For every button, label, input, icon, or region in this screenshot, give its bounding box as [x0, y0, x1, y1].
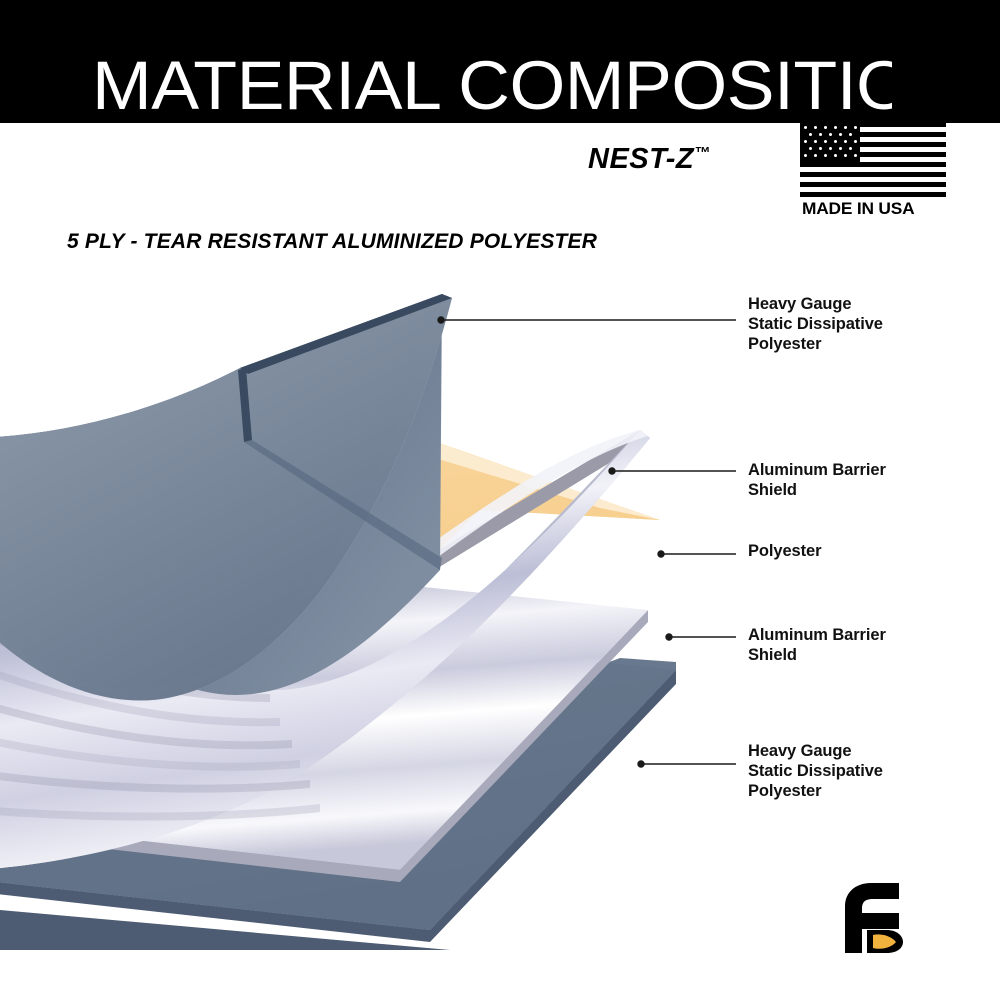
callout-label-4: Aluminum Barrier Shield	[748, 625, 886, 665]
page-title-text: MATERIAL COMPOSITION	[92, 49, 892, 123]
callout-label-1: Heavy Gauge Static Dissipative Polyester	[748, 294, 883, 354]
flag-canton	[800, 122, 860, 163]
callout-label-5: Heavy Gauge Static Dissipative Polyester	[748, 741, 883, 801]
page-title: MATERIAL COMPOSITION	[92, 49, 892, 123]
made-in-usa-label: MADE IN USA	[802, 199, 914, 219]
callout-label-3: Polyester	[748, 541, 821, 561]
callout-label-2: Aluminum Barrier Shield	[748, 460, 886, 500]
company-logo	[843, 882, 905, 954]
brand-name: NEST-Z™	[588, 143, 710, 176]
material-composition-infographic: MATERIAL COMPOSITION NEST-Z™	[0, 0, 1000, 1000]
usa-flag-icon	[800, 122, 946, 197]
brand-name-text: NEST-Z	[588, 143, 694, 175]
trademark-symbol: ™	[694, 145, 710, 162]
layer-diagram	[0, 270, 720, 950]
made-in-usa-badge: MADE IN USA	[800, 122, 946, 197]
ply-subtitle: 5 PLY - TEAR RESISTANT ALUMINIZED POLYES…	[67, 230, 597, 254]
